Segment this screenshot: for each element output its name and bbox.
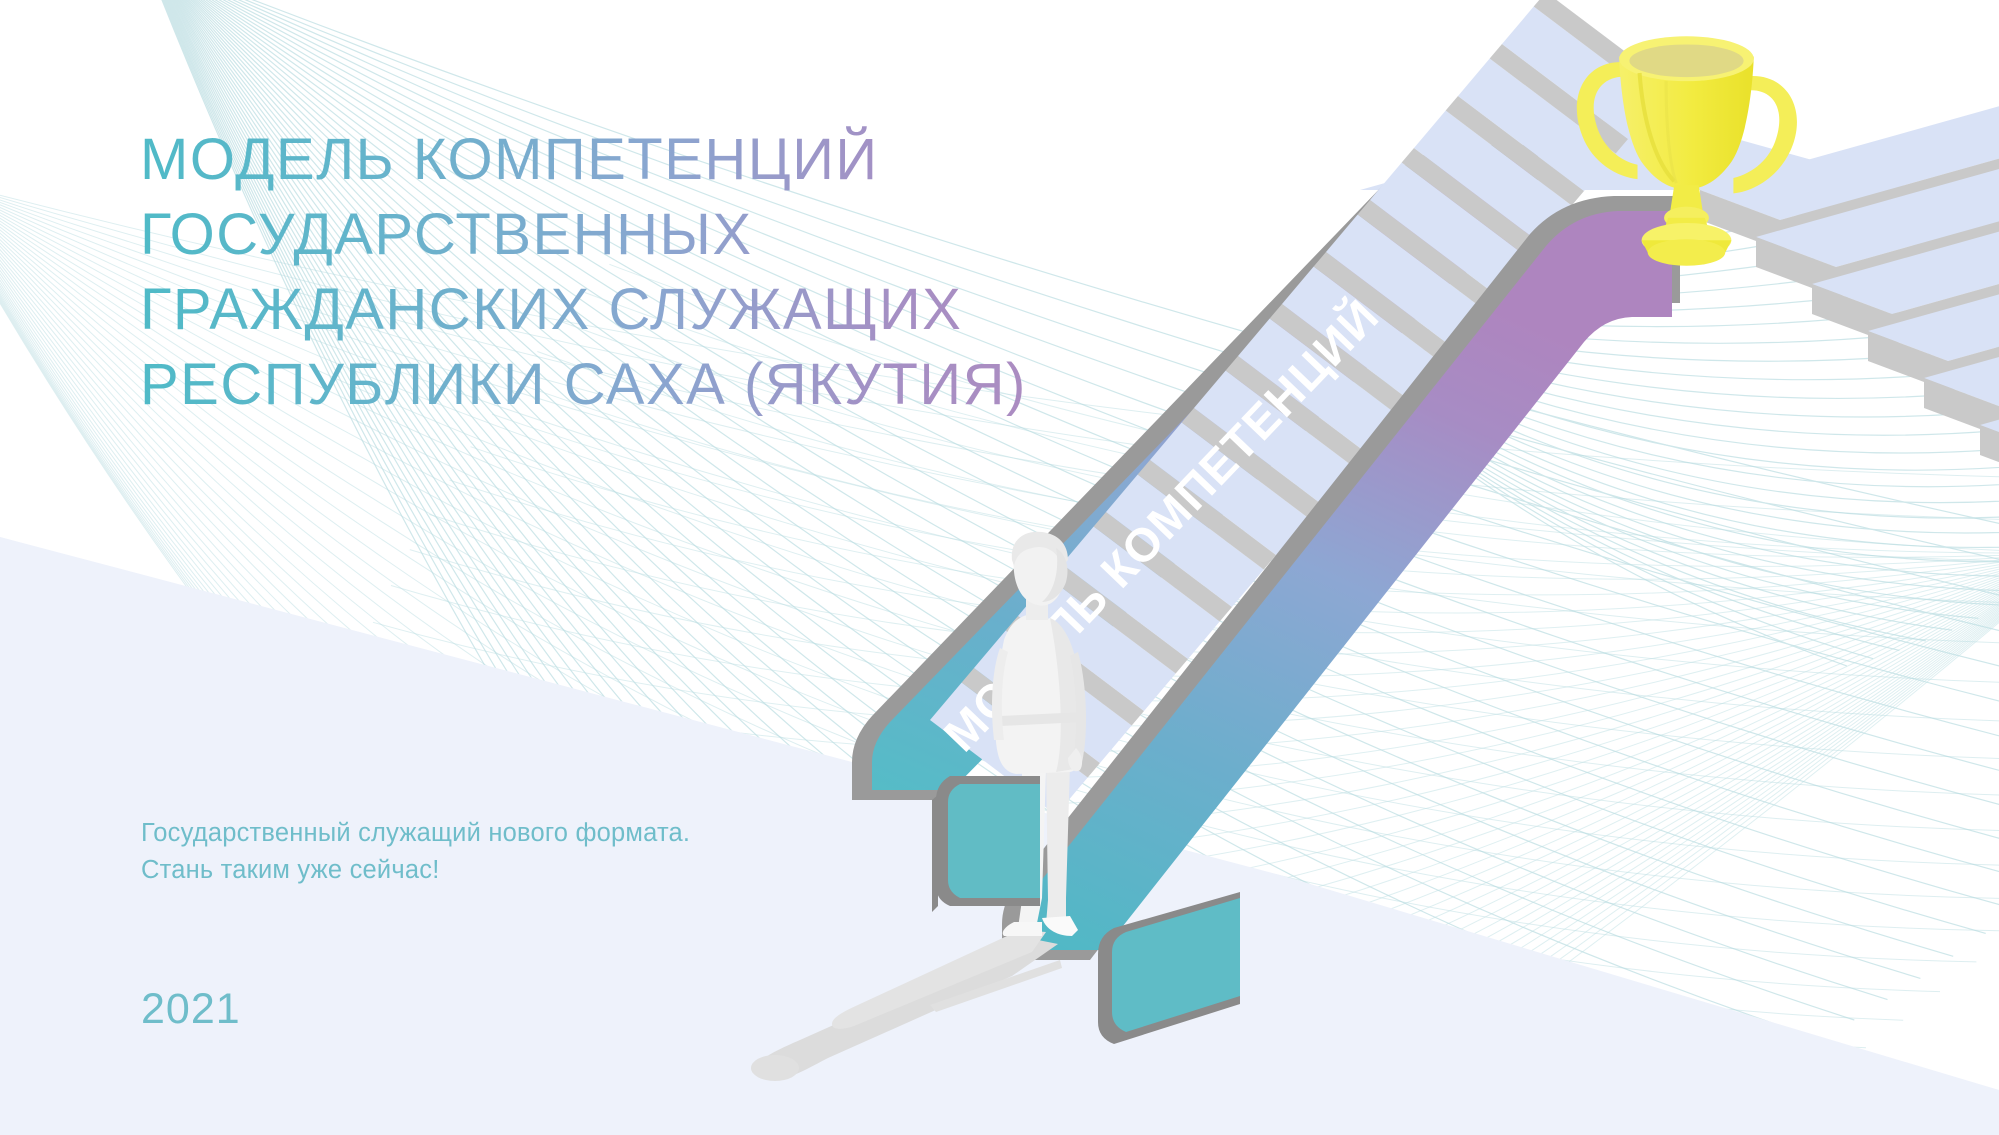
slide-canvas: МОДЕЛЬ КОМПЕТЕНЦИЙ xyxy=(0,0,1999,1135)
person-shadow xyxy=(751,930,1062,1081)
rail-stub-left xyxy=(936,776,1040,906)
escalator-illustration: МОДЕЛЬ КОМПЕТЕНЦИЙ xyxy=(0,0,1999,1135)
